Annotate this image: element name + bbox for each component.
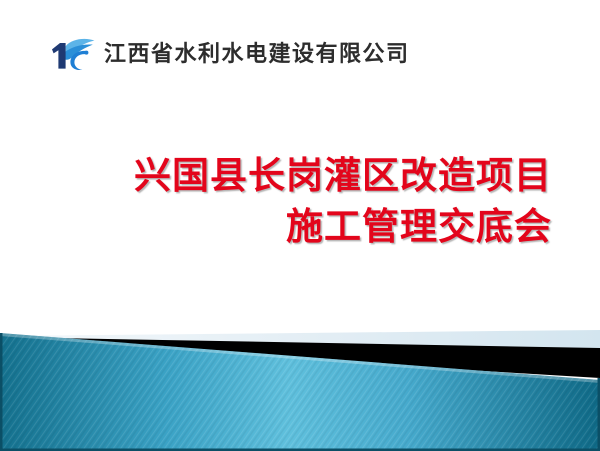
slide-title: 兴国县长岗灌区改造项目 施工管理交底会 [40, 150, 552, 252]
slide-title-line-1: 兴国县长岗灌区改造项目 [40, 150, 552, 201]
company-name-label: 江西省水利水电建设有限公司 [104, 44, 410, 66]
slide-title-line-2: 施工管理交底会 [40, 201, 552, 252]
company-logo-1c-mark [48, 35, 96, 75]
angles-bottom-graphic [0, 306, 600, 451]
presentation-title-slide: 江西省水利水电建设有限公司 兴国县长岗灌区改造项目 施工管理交底会 [0, 0, 600, 451]
company-header: 江西省水利水电建设有限公司 [48, 33, 410, 77]
